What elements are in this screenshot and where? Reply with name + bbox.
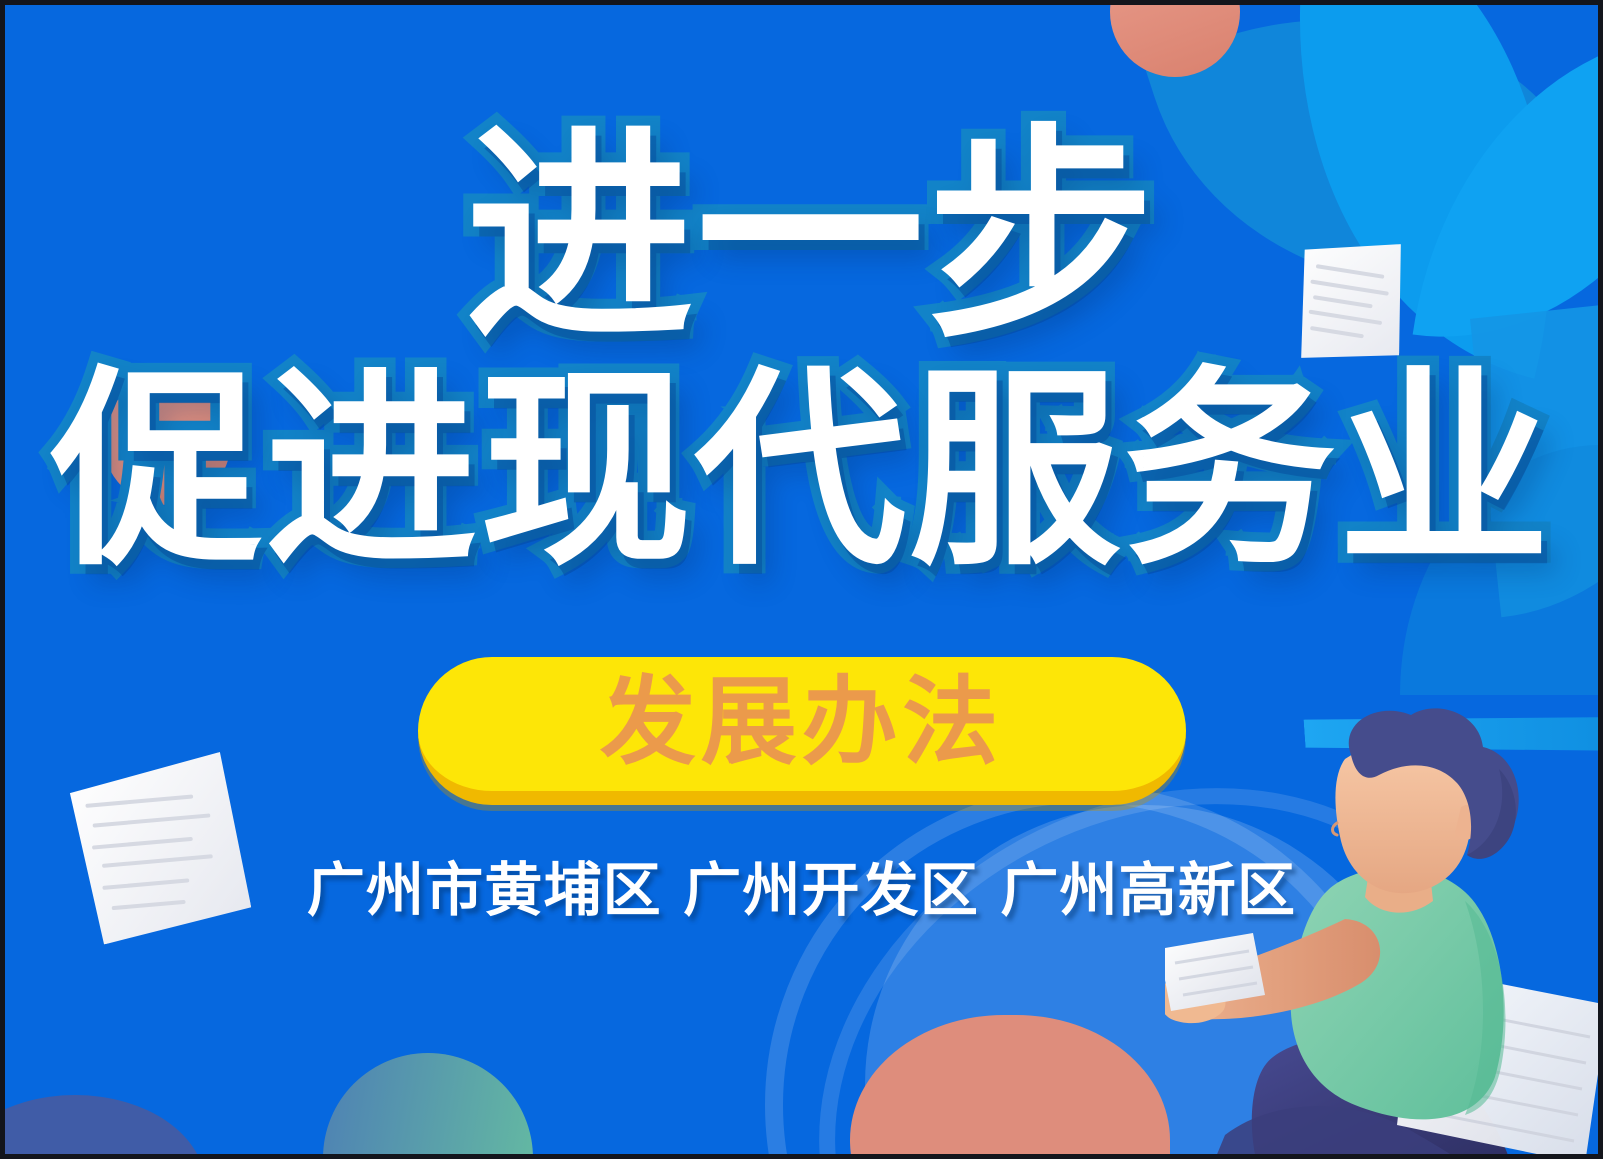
highlight-badge: 发展办法 <box>418 657 1186 805</box>
poster-canvas: 进一步 促进现代服务业 发展办法 广州市黄埔区 广州开发区 广州高新区 <box>0 0 1603 1159</box>
badge-label: 发展办法 <box>600 674 1003 770</box>
poster-subtitle: 广州市黄埔区 广州开发区 广州高新区 <box>5 843 1598 927</box>
coral-blob-bottom <box>850 1015 1170 1159</box>
coral-circle-top <box>1110 0 1240 77</box>
poster-title: 进一步 促进现代服务业 <box>5 123 1598 577</box>
navy-blob-bottom-left <box>0 1095 205 1159</box>
person-illustration <box>1165 705 1603 1159</box>
title-line-2: 促进现代服务业 <box>5 365 1598 577</box>
title-line-1: 进一步 <box>5 123 1598 351</box>
teal-circle-bottom-left <box>323 1053 533 1159</box>
